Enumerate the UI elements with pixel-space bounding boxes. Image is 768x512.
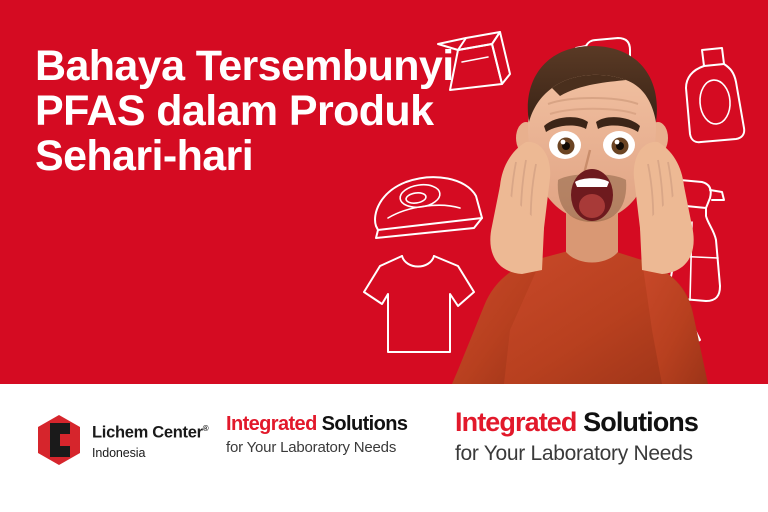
brand-logo-lockup[interactable]: Lichem Center® Indonesia [36, 414, 208, 466]
tagline-small: Integrated Solutions for Your Laboratory… [226, 412, 426, 457]
tagline-small-subline: for Your Laboratory Needs [226, 438, 426, 457]
poster-root: Bahaya Tersembunyi PFAS dalam Produk Seh… [0, 0, 768, 512]
registered-mark: ® [203, 424, 209, 433]
tagline-large-word-solutions: Solutions [583, 407, 698, 437]
tagline-small-headline: Integrated Solutions [226, 412, 426, 436]
lichem-hexagon-logo-icon [36, 414, 82, 466]
logo-name-text: Lichem Center [92, 424, 203, 442]
page-title: Bahaya Tersembunyi PFAS dalam Produk Seh… [35, 44, 505, 179]
hero-banner: Bahaya Tersembunyi PFAS dalam Produk Seh… [0, 0, 768, 384]
footer-bar: Lichem Center® Indonesia Integrated Solu… [0, 384, 768, 512]
tagline-large: Integrated Solutions for Your Laboratory… [455, 406, 745, 467]
logo-country: Indonesia [92, 445, 208, 461]
tagline-large-subline: for Your Laboratory Needs [455, 441, 745, 467]
tagline-small-word-integrated: Integrated [226, 413, 322, 435]
tagline-small-word-solutions: Solutions [322, 413, 408, 435]
logo-company-name: Lichem Center® [92, 419, 208, 443]
tagline-large-headline: Integrated Solutions [455, 406, 745, 438]
tagline-large-word-integrated: Integrated [455, 407, 583, 437]
